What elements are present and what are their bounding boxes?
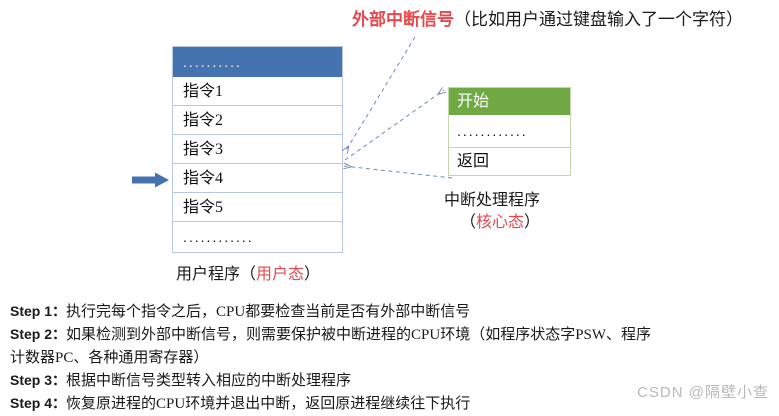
step-text: 执行完每个指令之后，CPU都要检查当前是否有外部中断信号 xyxy=(66,304,470,320)
table-row: 指令5 xyxy=(173,193,342,222)
table-row: ............ xyxy=(449,115,570,148)
table-row: ............ xyxy=(173,222,342,252)
paren-open: （ xyxy=(460,214,476,231)
step-text: 恢复原进程的CPU环境并退出中断，返回原进程继续往下执行 xyxy=(66,396,470,412)
interrupt-handler-caption-mode-line: （核心态） xyxy=(444,212,540,234)
step-label: Step 4： xyxy=(10,395,66,411)
step-label: Step 3： xyxy=(10,372,66,388)
list-item: Step 1：执行完每个指令之后，CPU都要检查当前是否有外部中断信号 xyxy=(10,300,770,323)
interrupt-handler-caption-main: 中断处理程序 xyxy=(444,192,540,209)
interrupt-handler-caption: 中断处理程序 （核心态） xyxy=(444,190,540,234)
table-row: 指令1 xyxy=(173,77,342,106)
step-label: Step 1： xyxy=(10,303,66,319)
user-program-table: .......... 指令1 指令2 指令3 指令4 指令5 .........… xyxy=(172,46,343,253)
table-row: 指令2 xyxy=(173,106,342,135)
kernel-mode-label: 核心态 xyxy=(476,214,524,231)
step-text: 如果检测到外部中断信号，则需要保护被中断进程的CPU环境（如程序状态字PSW、程… xyxy=(66,327,651,343)
instruction-label: 指令2 xyxy=(183,112,223,129)
interrupt-handler-return-label: 返回 xyxy=(457,153,489,170)
user-program-header-dots: .......... xyxy=(183,54,242,70)
instruction-label: ............ xyxy=(183,229,254,245)
table-row: 指令3 xyxy=(173,135,342,164)
paren-open: （ xyxy=(240,266,256,283)
right-arrow-icon xyxy=(132,172,170,193)
paren-close: ） xyxy=(524,214,540,231)
interrupt-handler-body-dots: ............ xyxy=(457,123,528,139)
user-mode-label: 用户态 xyxy=(256,266,304,283)
arrow-signal-to-instruction xyxy=(345,37,415,152)
step-text: 计数器PC、各种通用寄存器） xyxy=(10,350,208,366)
arrow-instruction-to-handler xyxy=(345,90,444,160)
list-item-continuation: 计数器PC、各种通用寄存器） xyxy=(10,346,770,369)
interrupt-handler-table: 开始 ............ 返回 xyxy=(448,87,571,176)
table-row-current: 指令4 xyxy=(173,164,342,193)
external-interrupt-annotation: 外部中断信号（比如用户通过键盘输入了一个字符） xyxy=(352,9,743,31)
step-text: 根据中断信号类型转入相应的中断处理程序 xyxy=(66,373,351,389)
instruction-label: 指令5 xyxy=(183,199,223,216)
instruction-label: 指令1 xyxy=(183,83,223,100)
table-row: 返回 xyxy=(449,148,570,175)
user-program-caption-main: 用户程序 xyxy=(176,266,240,283)
paren-close: ） xyxy=(304,266,320,283)
interrupt-handler-header: 开始 xyxy=(449,88,570,115)
list-item: Step 2：如果检测到外部中断信号，则需要保护被中断进程的CPU环境（如程序状… xyxy=(10,323,770,346)
instruction-label: 指令4 xyxy=(183,170,223,187)
user-program-header: .......... xyxy=(173,47,342,77)
step-label: Step 2： xyxy=(10,326,66,342)
diagram-canvas: 外部中断信号（比如用户通过键盘输入了一个字符） .......... 指令1 指… xyxy=(0,0,779,416)
annotation-rest: （比如用户通过键盘输入了一个字符） xyxy=(454,10,743,29)
user-program-caption: 用户程序（用户态） xyxy=(176,260,320,284)
arrow-handler-return-to-instruction xyxy=(344,166,452,178)
annotation-highlight: 外部中断信号 xyxy=(352,10,454,29)
interrupt-handler-start-label: 开始 xyxy=(457,93,489,110)
csdn-watermark: CSDN @隔壁小查 xyxy=(637,381,769,402)
instruction-label: 指令3 xyxy=(183,141,223,158)
